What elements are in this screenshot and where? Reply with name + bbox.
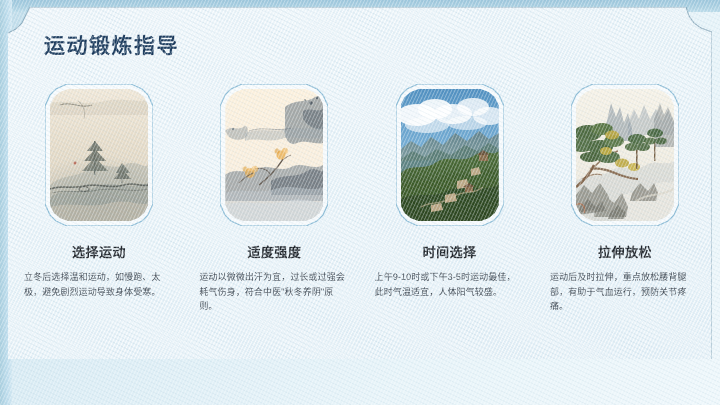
card-title: 拉伸放松	[598, 242, 652, 261]
thumbnail-frame	[220, 84, 328, 226]
thumbnail-image	[576, 89, 674, 221]
thumbnail-image	[50, 89, 148, 221]
thumbnail-image	[401, 89, 499, 221]
card-title: 时间选择	[423, 242, 477, 261]
card-choose-exercise[interactable]: 选择运动 立冬后选择温和运动，如慢跑、太极，避免剧烈运动导致身体受寒。	[20, 84, 178, 334]
card-time-selection[interactable]: 时间选择 上午9-10时或下午3-5时运动最佳，此时气温适宜，人体阳气较盛。	[371, 84, 529, 334]
thumbnail-frame	[396, 84, 504, 226]
card-body: 运动后及时拉伸，重点放松腰背腿部，有助于气血运行，预防关节疼痛。	[550, 270, 700, 314]
thumbnail-image	[225, 89, 323, 221]
card-body: 立冬后选择温和运动，如慢跑、太极，避免剧烈运动导致身体受寒。	[24, 270, 174, 299]
card-stretch-relax[interactable]: 拉伸放松 运动后及时拉伸，重点放松腰背腿部，有助于气血运行，预防关节疼痛。	[546, 84, 704, 334]
thumbnail-frame	[45, 84, 153, 226]
card-title: 选择运动	[72, 242, 126, 261]
slide-canvas: 运动锻炼指导	[0, 0, 720, 405]
page-title: 运动锻炼指导	[44, 30, 179, 60]
card-moderate-intensity[interactable]: 适度强度 运动以微微出汗为宜，过长或过强会耗气伤身，符合中医"秋冬养阴"原则。	[195, 84, 353, 334]
card-body: 上午9-10时或下午3-5时运动最佳，此时气温适宜，人体阳气较盛。	[375, 270, 525, 299]
cards-row: 选择运动 立冬后选择温和运动，如慢跑、太极，避免剧烈运动导致身体受寒。	[20, 84, 704, 334]
card-body: 运动以微微出汗为宜，过长或过强会耗气伤身，符合中医"秋冬养阴"原则。	[199, 270, 349, 314]
card-title: 适度强度	[247, 242, 301, 261]
thumbnail-frame	[571, 84, 679, 226]
